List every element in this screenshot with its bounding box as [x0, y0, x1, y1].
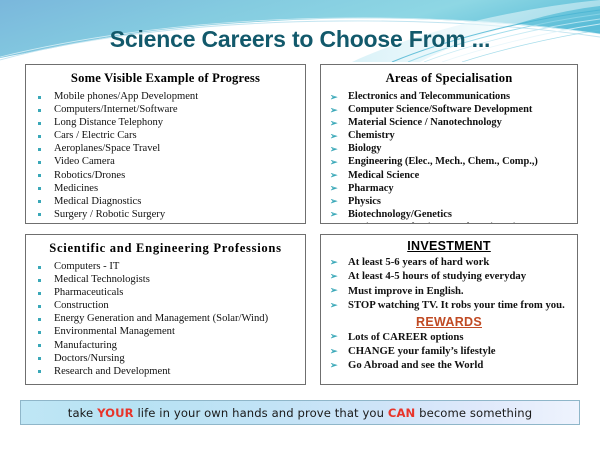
footer-text-part1: take — [68, 406, 97, 420]
footer-highlight-your: YOUR — [97, 406, 134, 420]
footer-banner-text: take YOUR life in your own hands and pro… — [68, 406, 532, 420]
panel-title-progress: Some Visible Example of Progress — [26, 71, 305, 86]
list-item: Long Distance Telephony — [32, 117, 301, 130]
list-areas: Electronics and Telecommunications Compu… — [321, 91, 577, 224]
list-item: Manufacturing — [32, 340, 301, 353]
list-progress: Mobile phones/App Development Computers/… — [26, 91, 305, 221]
list-item: Biology — [327, 143, 573, 156]
list-item: Cars / Electric Cars — [32, 130, 301, 143]
panel-scientific-engineering-professions: Scientific and Engineering Professions C… — [25, 234, 306, 385]
list-item: Physics — [327, 196, 573, 209]
page-title: Science Careers to Choose From ... — [0, 26, 600, 53]
panel-title-professions: Scientific and Engineering Professions — [26, 241, 305, 256]
list-item: Computers/Internet/Software — [32, 104, 301, 117]
footer-motivation-banner: take YOUR life in your own hands and pro… — [20, 400, 580, 425]
footer-text-part3: become something — [415, 406, 532, 420]
list-item: Environmental Management — [32, 326, 301, 339]
list-item: Chemistry — [327, 130, 573, 143]
list-item: Environmental Science and Engineering — [327, 222, 573, 224]
list-item: At least 5-6 years of hard work — [327, 256, 573, 269]
list-item: Biotechnology/Genetics — [327, 209, 573, 222]
list-item: Medical Technologists — [32, 274, 301, 287]
panel-title-investment: INVESTMENT — [321, 239, 577, 253]
list-item: Mobile phones/App Development — [32, 91, 301, 104]
list-item: Doctors/Nursing — [32, 353, 301, 366]
list-item: Aeroplanes/Space Travel — [32, 143, 301, 156]
panel-title-areas: Areas of Specialisation — [321, 71, 577, 86]
list-item: Research and Development — [32, 366, 301, 379]
list-item: Lots of CAREER options — [327, 331, 573, 344]
list-item: Computer Science/Software Development — [327, 104, 573, 117]
list-item: Pharmaceuticals — [32, 287, 301, 300]
panel-areas-of-specialisation: Areas of Specialisation Electronics and … — [320, 64, 578, 224]
list-item: CHANGE your family’s lifestyle — [327, 345, 573, 358]
list-item: Material Science / Nanotechnology — [327, 117, 573, 130]
list-professions: Computers - IT Medical Technologists Pha… — [26, 261, 305, 378]
list-item: Construction — [32, 300, 301, 313]
list-item: Surgery / Robotic Surgery — [32, 209, 301, 222]
list-item: Computers - IT — [32, 261, 301, 274]
list-item: At least 4-5 hours of studying everyday — [327, 270, 573, 283]
list-item: Engineering (Elec., Mech., Chem., Comp.,… — [327, 156, 573, 169]
footer-text-part2: life in your own hands and prove that yo… — [134, 406, 388, 420]
list-item: Medical Diagnostics — [32, 196, 301, 209]
list-item: Go Abroad and see the World — [327, 359, 573, 372]
panel-subtitle-rewards: REWARDS — [321, 315, 577, 329]
panel-investment-rewards: INVESTMENT At least 5-6 years of hard wo… — [320, 234, 578, 385]
list-item: Electronics and Telecommunications — [327, 91, 573, 104]
list-rewards: Lots of CAREER options CHANGE your famil… — [321, 331, 577, 373]
list-item: Energy Generation and Management (Solar/… — [32, 313, 301, 326]
list-item: Medicines — [32, 183, 301, 196]
list-item: Robotics/Drones — [32, 170, 301, 183]
list-item: STOP watching TV. It robs your time from… — [327, 299, 573, 312]
list-item: Video Camera — [32, 156, 301, 169]
list-item: Medical Science — [327, 170, 573, 183]
list-investment: At least 5-6 years of hard work At least… — [321, 256, 577, 313]
footer-highlight-can: CAN — [388, 406, 415, 420]
list-item: Must improve in English. — [327, 285, 573, 298]
panel-visible-examples-of-progress: Some Visible Example of Progress Mobile … — [25, 64, 306, 224]
list-item: Pharmacy — [327, 183, 573, 196]
